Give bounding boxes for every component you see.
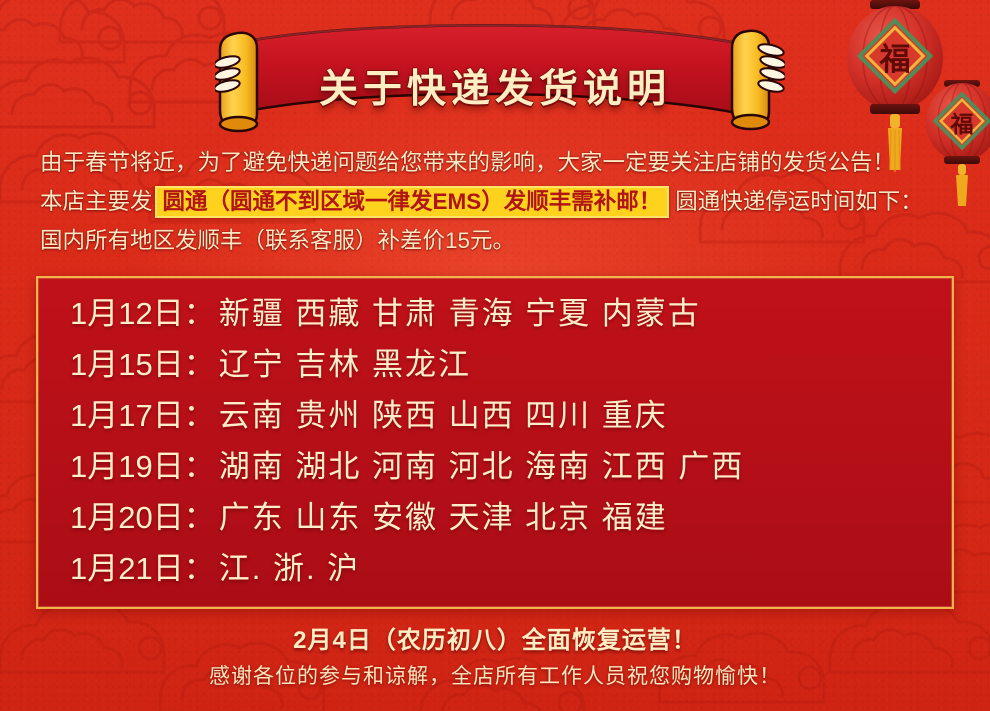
schedule-row: 1月15日：辽宁 吉林 黑龙江: [70, 339, 952, 390]
shipping-carrier-highlight: 圆通（圆通不到区域一律发EMS）发顺丰需补邮！: [155, 186, 670, 218]
intro-line-1: 由于春节将近，为了避免快递问题给您带来的影响，大家一定要关注店铺的发货公告！: [40, 144, 952, 182]
intro-line-3: 国内所有地区发顺丰（联系客服）补差价15元。: [40, 222, 952, 260]
schedule-regions: 广东 山东 安徽 天津 北京 福建: [219, 500, 668, 535]
title-scroll: 关于快递发货说明: [0, 18, 990, 136]
resume-operation-notice: 2月4日（农历初八）全面恢复运营！: [0, 620, 990, 655]
intro-line-2: 本店主要发 圆通（圆通不到区域一律发EMS）发顺丰需补邮！ 圆通快递停运时间如下…: [40, 182, 952, 222]
shipping-schedule-list: 1月12日：新疆 西藏 甘肃 青海 宁夏 内蒙古 1月15日：辽宁 吉林 黑龙江…: [38, 278, 952, 594]
schedule-row: 1月17日：云南 贵州 陕西 山西 四川 重庆: [70, 390, 952, 441]
lantern-tassel-small: [956, 164, 968, 206]
schedule-date: 1月12日：: [70, 296, 215, 331]
schedule-row: 1月19日：湖南 湖北 河南 河北 海南 江西 广西: [70, 441, 952, 492]
intro-line-2-prefix: 本店主要发: [40, 182, 153, 222]
schedule-row: 1月21日：江. 浙. 沪: [70, 543, 952, 594]
schedule-date: 1月17日：: [70, 398, 215, 433]
thank-you-message: 感谢各位的参与和谅解，全店所有工作人员祝您购物愉快！: [0, 660, 990, 690]
schedule-regions: 云南 贵州 陕西 山西 四川 重庆: [219, 398, 668, 433]
schedule-regions: 辽宁 吉林 黑龙江: [219, 347, 471, 382]
intro-paragraph: 由于春节将近，为了避免快递问题给您带来的影响，大家一定要关注店铺的发货公告！ 本…: [40, 144, 952, 260]
page-title: 关于快递发货说明: [0, 58, 990, 114]
shipping-notice-banner: 关于快递发货说明: [0, 0, 990, 711]
schedule-date: 1月20日：: [70, 500, 215, 535]
intro-line-2-suffix: 圆通快递停运时间如下：: [675, 182, 923, 222]
schedule-regions: 江. 浙. 沪: [219, 551, 360, 586]
schedule-regions: 湖南 湖北 河南 河北 海南 江西 广西: [219, 449, 745, 484]
schedule-date: 1月19日：: [70, 449, 215, 484]
schedule-regions: 新疆 西藏 甘肃 青海 宁夏 内蒙古: [219, 296, 701, 331]
schedule-row: 1月20日：广东 山东 安徽 天津 北京 福建: [70, 492, 952, 543]
schedule-date: 1月15日：: [70, 347, 215, 382]
schedule-date: 1月21日：: [70, 551, 215, 586]
shipping-schedule-box: 1月12日：新疆 西藏 甘肃 青海 宁夏 内蒙古 1月15日：辽宁 吉林 黑龙江…: [36, 276, 954, 609]
schedule-row: 1月12日：新疆 西藏 甘肃 青海 宁夏 内蒙古: [70, 288, 952, 339]
